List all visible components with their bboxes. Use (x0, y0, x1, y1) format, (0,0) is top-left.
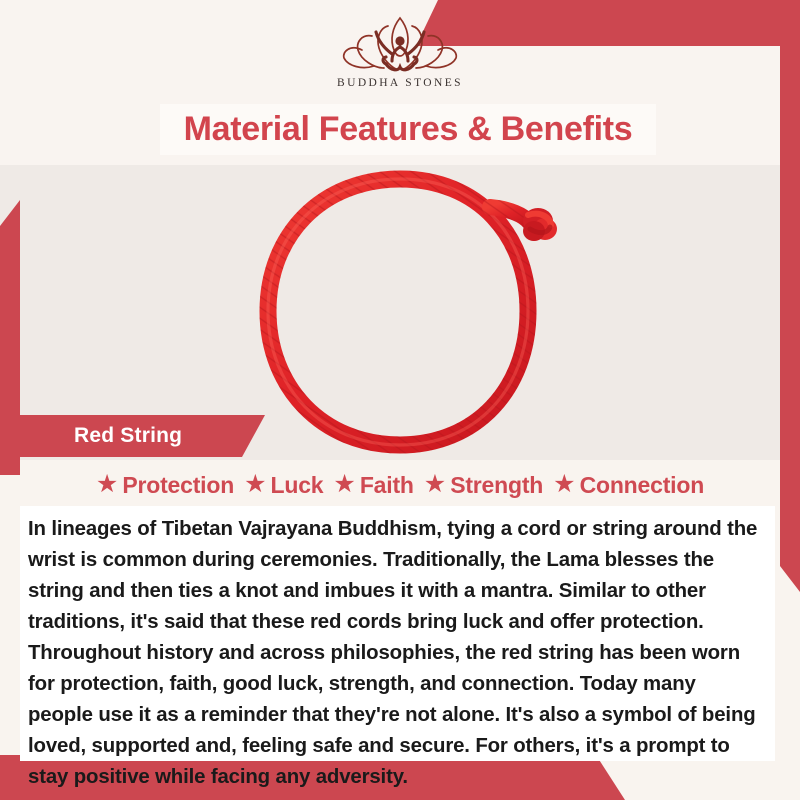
star-icon: ★ (424, 472, 446, 497)
star-icon: ★ (553, 472, 575, 497)
description-text: In lineages of Tibetan Vajrayana Buddhis… (28, 514, 763, 793)
brand-name: BUDDHA STONES (337, 77, 463, 89)
star-icon: ★ (96, 472, 118, 497)
page-title: Material Features & Benefits (184, 110, 633, 149)
material-ribbon: Red String (20, 415, 265, 457)
material-name: Red String (74, 424, 182, 448)
brand-logo: BUDDHA STONES (0, 14, 800, 100)
feature-item-connection: ★ Connection (553, 472, 704, 499)
decorative-band-left-edge (0, 200, 20, 475)
feature-item-protection: ★ Protection (96, 472, 234, 499)
feature-item-luck: ★ Luck (244, 472, 323, 499)
star-icon: ★ (244, 472, 266, 497)
title-banner: Material Features & Benefits (160, 104, 656, 155)
feature-item-faith: ★ Faith (333, 472, 413, 499)
star-icon: ★ (333, 472, 355, 497)
feature-label: Protection (122, 472, 234, 499)
infographic-page: BUDDHA STONES Material Features & Benefi… (0, 0, 800, 800)
feature-label: Strength (450, 472, 543, 499)
feature-label: Luck (271, 472, 324, 499)
description-panel: In lineages of Tibetan Vajrayana Buddhis… (20, 506, 775, 761)
feature-label: Connection (580, 472, 705, 499)
lotus-meditation-icon (332, 14, 468, 78)
feature-label: Faith (360, 472, 414, 499)
feature-item-strength: ★ Strength (424, 472, 543, 499)
feature-list: ★ Protection ★ Luck ★ Faith ★ Strength ★… (20, 466, 780, 504)
